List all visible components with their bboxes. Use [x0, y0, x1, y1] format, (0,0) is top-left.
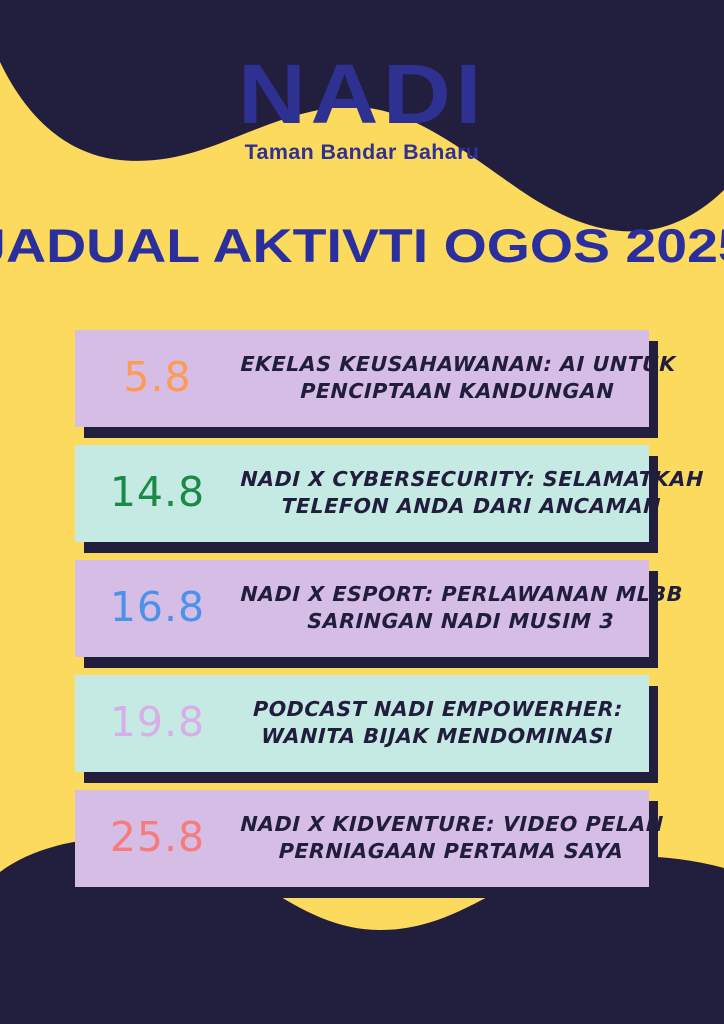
row-title-line-1: NADI X KIDVENTURE: VIDEO PELAN	[240, 811, 664, 838]
page-title: JADUAL AKTIVTI OGOS 2025	[0, 218, 724, 273]
row-title-line-2: PERNIAGAAN PERTAMA SAYA	[239, 839, 663, 866]
row-title-line-1: EKELAS KEUSAHAWANAN: AI UNTUK	[240, 351, 676, 378]
row-title: NADI X KIDVENTURE: VIDEO PELAN PERNIAGAA…	[239, 811, 678, 866]
row-title-line-1: PODCAST NADI EMPOWERHER:	[240, 696, 636, 723]
row-title: PODCAST NADI EMPOWERHER: WANITA BIJAK ME…	[239, 696, 650, 751]
schedule-list: 5.8 EKELAS KEUSAHAWANAN: AI UNTUK PENCIP…	[75, 330, 649, 905]
row-card: 25.8 NADI X KIDVENTURE: VIDEO PELAN PERN…	[75, 790, 649, 887]
row-card: 14.8 NADI X CYBERSECURITY: SELAMATKAH TE…	[75, 445, 649, 542]
row-title-line-1: NADI X ESPORT: PERLAWANAN MLBB	[240, 581, 683, 608]
row-title-line-2: TELEFON ANDA DARI ANCAMAN	[239, 494, 703, 521]
row-date: 19.8	[75, 702, 240, 746]
row-card: 16.8 NADI X ESPORT: PERLAWANAN MLBB SARI…	[75, 560, 649, 657]
row-title-line-2: PENCIPTAAN KANDUNGAN	[239, 379, 675, 406]
row-date: 16.8	[75, 587, 240, 631]
poster-canvas: NADI Taman Bandar Baharu JADUAL AKTIVTI …	[0, 0, 724, 1024]
brand-block: NADI Taman Bandar Baharu	[0, 56, 724, 165]
row-title: EKELAS KEUSAHAWANAN: AI UNTUK PENCIPTAAN…	[239, 351, 690, 406]
brand-title: NADI	[0, 56, 724, 133]
row-card: 5.8 EKELAS KEUSAHAWANAN: AI UNTUK PENCIP…	[75, 330, 649, 427]
schedule-row: 25.8 NADI X KIDVENTURE: VIDEO PELAN PERN…	[75, 790, 649, 887]
row-date: 25.8	[75, 817, 240, 861]
row-title: NADI X CYBERSECURITY: SELAMATKAH TELEFON…	[239, 466, 718, 521]
row-date: 14.8	[75, 472, 240, 516]
schedule-row: 16.8 NADI X ESPORT: PERLAWANAN MLBB SARI…	[75, 560, 649, 657]
row-card: 19.8 PODCAST NADI EMPOWERHER: WANITA BIJ…	[75, 675, 649, 772]
row-title-line-1: NADI X CYBERSECURITY: SELAMATKAH	[240, 466, 704, 493]
brand-subtitle: Taman Bandar Baharu	[0, 141, 724, 165]
row-title-line-2: WANITA BIJAK MENDOMINASI	[239, 724, 635, 751]
schedule-row: 5.8 EKELAS KEUSAHAWANAN: AI UNTUK PENCIP…	[75, 330, 649, 427]
schedule-row: 14.8 NADI X CYBERSECURITY: SELAMATKAH TE…	[75, 445, 649, 542]
row-title-line-2: SARINGAN NADI MUSIM 3	[239, 609, 682, 636]
row-date: 5.8	[75, 357, 240, 401]
row-title: NADI X ESPORT: PERLAWANAN MLBB SARINGAN …	[239, 581, 697, 636]
schedule-row: 19.8 PODCAST NADI EMPOWERHER: WANITA BIJ…	[75, 675, 649, 772]
